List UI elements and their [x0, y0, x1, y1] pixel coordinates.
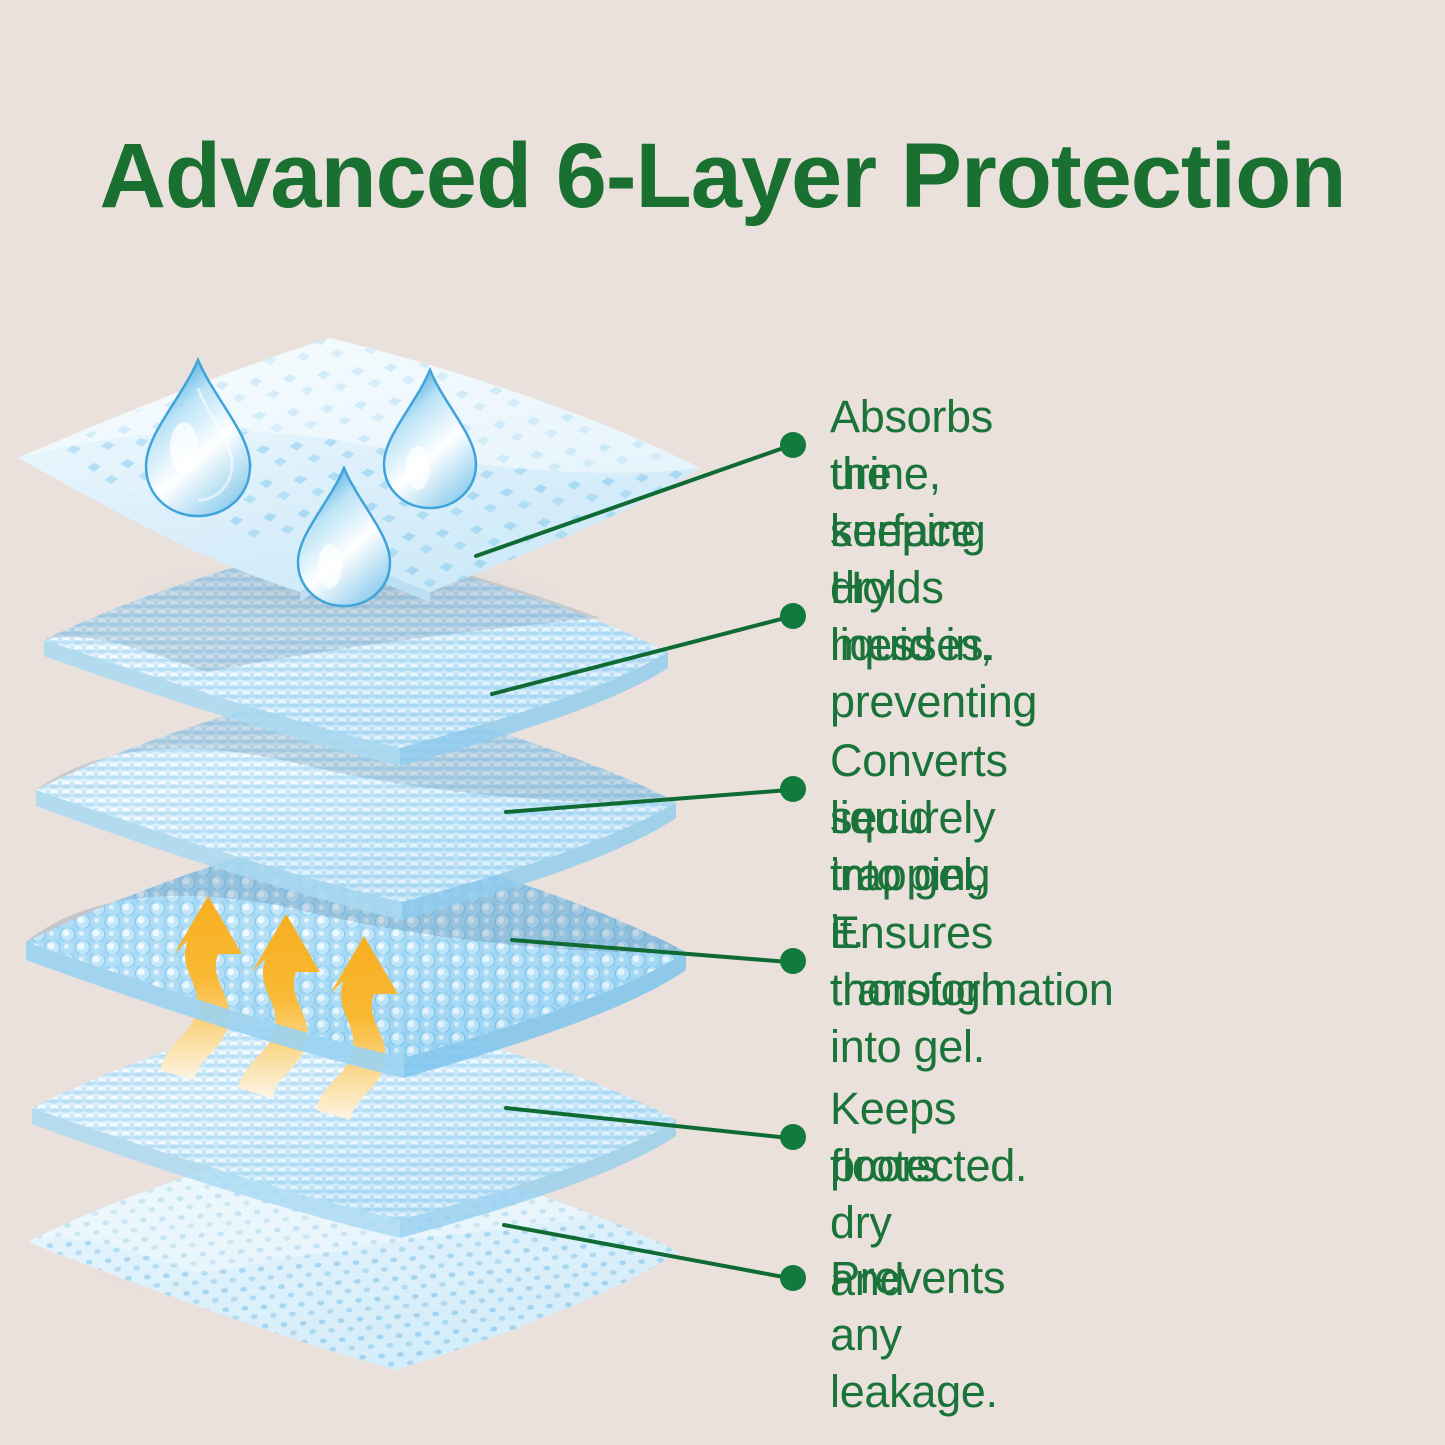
layer-stack-illustration: [0, 330, 780, 1380]
callout-text-6-line-1: Prevents any leakage.: [830, 1249, 1005, 1420]
callout-text-4-line-2: transformation into gel.: [830, 961, 1113, 1075]
callout-bullet-4: [780, 948, 806, 974]
callout-bullet-5: [780, 1124, 806, 1150]
callout-bullet-1: [780, 432, 806, 458]
page-title: Advanced 6-Layer Protection: [0, 128, 1445, 225]
callout-bullet-2: [780, 603, 806, 629]
callout-bullet-3: [780, 776, 806, 802]
callout-text-5-line-2: protected.: [830, 1137, 1027, 1194]
illustration-layer-1: [0, 330, 780, 630]
callout-text-2-line-2: messes.: [830, 616, 995, 673]
callout-bullet-6: [780, 1265, 806, 1291]
